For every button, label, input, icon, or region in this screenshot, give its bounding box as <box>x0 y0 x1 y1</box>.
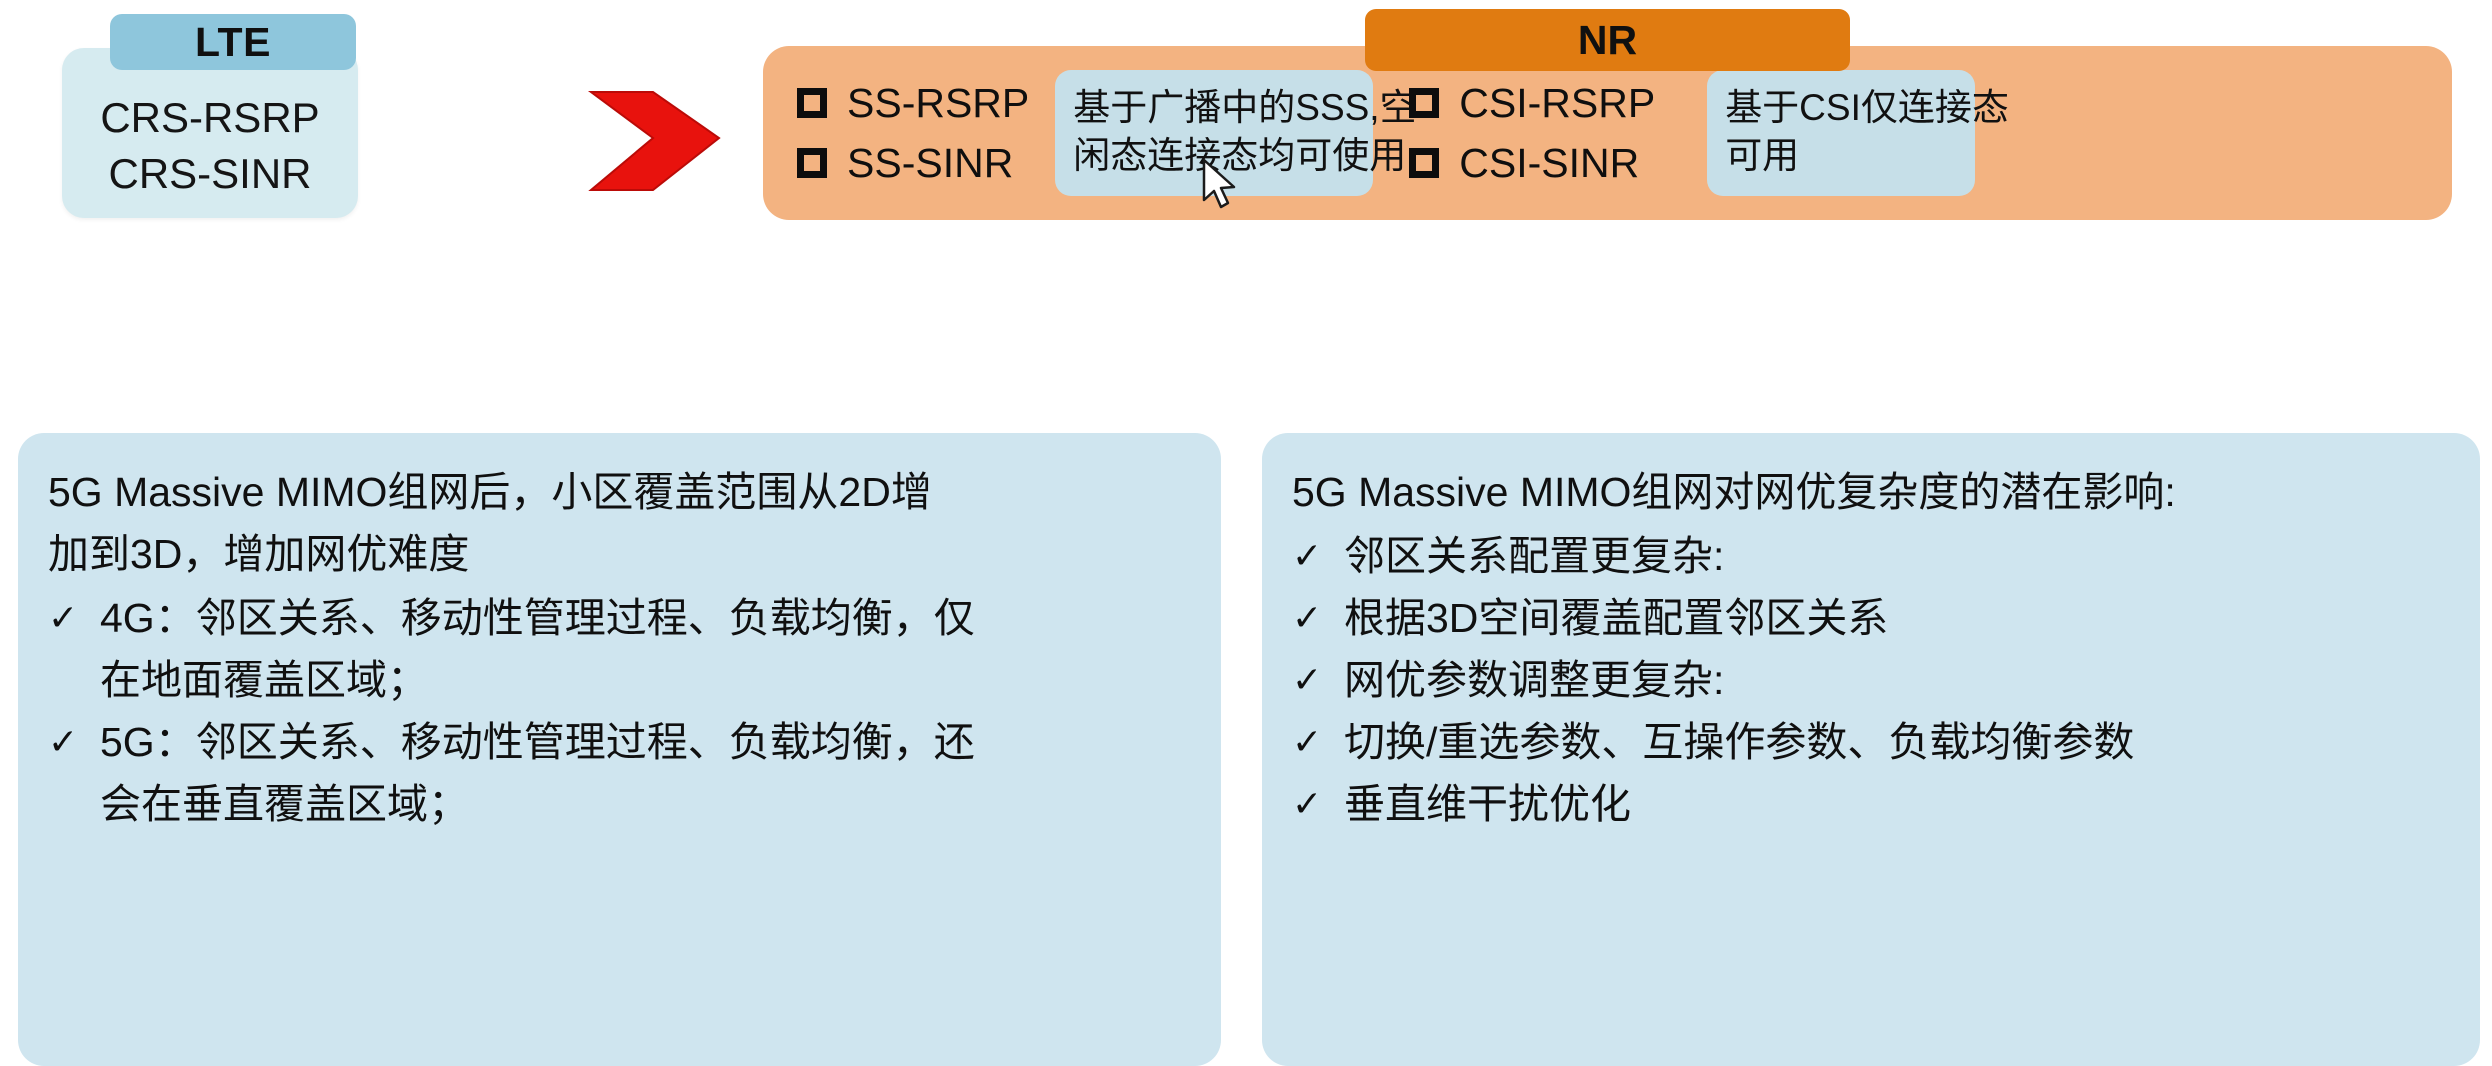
check-mark-icon: ✓ <box>1292 525 1344 587</box>
panel-left-heading-line-2: 加到3D，增加网优难度 <box>48 523 1187 585</box>
panel-left-bullet-1-line-1: 4G：邻区关系、移动性管理过程、负载均衡，仅 <box>100 595 975 641</box>
list-item: ✓ 根据3D空间覆盖配置邻区关系 <box>1292 587 2446 649</box>
list-item: ✓ 4G：邻区关系、移动性管理过程、负载均衡，仅 在地面覆盖区域； <box>48 587 1187 711</box>
nr-metric-row-csi-rsrp[interactable]: CSI-RSRP <box>1409 77 1655 129</box>
check-mark-icon: ✓ <box>1292 711 1344 773</box>
coverage-impact-panel: 5G Massive MIMO组网后，小区覆盖范围从2D增 加到3D，增加网优难… <box>18 433 1221 1066</box>
page-bottom-cutoff <box>0 1046 300 1066</box>
checkbox-csi-sinr-icon[interactable] <box>1409 148 1439 178</box>
panel-right-bullet-2-line-1: 根据3D空间覆盖配置邻区关系 <box>1344 587 2446 649</box>
panel-left-bullet-2-line-2: 会在垂直覆盖区域； <box>100 781 469 827</box>
nr-metric-label-ss-rsrp: SS-RSRP <box>847 77 1029 129</box>
nr-ss-note-line-1: 基于广播中的SSS,空 <box>1073 84 1355 132</box>
lte-tab-label: LTE <box>195 19 271 66</box>
panel-right-heading: 5G Massive MIMO组网对网优复杂度的潜在影响: <box>1292 461 2446 523</box>
panel-left-bullet-1-line-2: 在地面覆盖区域； <box>100 657 428 703</box>
nr-metric-label-ss-sinr: SS-SINR <box>847 137 1013 189</box>
nr-ss-metric-group: SS-RSRP SS-SINR <box>785 77 1051 189</box>
nr-metric-label-csi-rsrp: CSI-RSRP <box>1459 77 1655 129</box>
panel-left-bullet-list: ✓ 4G：邻区关系、移动性管理过程、负载均衡，仅 在地面覆盖区域； ✓ 5G：邻… <box>48 587 1187 835</box>
nr-metric-row-ss-sinr[interactable]: SS-SINR <box>797 137 1029 189</box>
nr-tab-label: NR <box>1578 17 1637 64</box>
checkbox-csi-rsrp-icon[interactable] <box>1409 88 1439 118</box>
comparison-diagram-top-row: LTE CRS-RSRP CRS-SINR SS-RSRP SS-SINR 基于… <box>0 0 2492 250</box>
panel-right-bullet-1-line-1: 邻区关系配置更复杂: <box>1344 525 2446 587</box>
lte-metric-list: CRS-RSRP CRS-SINR <box>62 90 358 202</box>
right-chevron-arrow-icon <box>585 78 725 198</box>
nr-csi-metric-group: CSI-RSRP CSI-SINR <box>1373 77 1677 189</box>
panel-left-bullet-2-text: 5G：邻区关系、移动性管理过程、负载均衡，还 会在垂直覆盖区域； <box>100 711 1187 835</box>
panel-right-bullet-list: ✓ 邻区关系配置更复杂: ✓ 根据3D空间覆盖配置邻区关系 ✓ 网优参数调整更复… <box>1292 525 2446 835</box>
lte-metric-crs-rsrp: CRS-RSRP <box>62 90 358 146</box>
checkbox-ss-sinr-icon[interactable] <box>797 148 827 178</box>
panel-left-heading: 5G Massive MIMO组网后，小区覆盖范围从2D增 加到3D，增加网优难… <box>48 461 1187 585</box>
panel-left-bullet-2-line-1: 5G：邻区关系、移动性管理过程、负载均衡，还 <box>100 719 975 765</box>
list-item: ✓ 5G：邻区关系、移动性管理过程、负载均衡，还 会在垂直覆盖区域； <box>48 711 1187 835</box>
list-item: ✓ 邻区关系配置更复杂: <box>1292 525 2446 587</box>
optimization-complexity-panel: 5G Massive MIMO组网对网优复杂度的潜在影响: ✓ 邻区关系配置更复… <box>1262 433 2480 1066</box>
lte-metric-crs-sinr: CRS-SINR <box>62 146 358 202</box>
panel-right-bullet-4-line-1: 切换/重选参数、互操作参数、负载均衡参数 <box>1344 711 2446 773</box>
nr-metric-label-csi-sinr: CSI-SINR <box>1459 137 1639 189</box>
check-mark-icon: ✓ <box>48 587 100 649</box>
nr-tab-header: NR <box>1365 9 1850 71</box>
list-item: ✓ 切换/重选参数、互操作参数、负载均衡参数 <box>1292 711 2446 773</box>
nr-csi-note-line-1: 基于CSI仅连接态 <box>1725 84 1957 132</box>
list-item: ✓ 垂直维干扰优化 <box>1292 773 2446 835</box>
list-item: ✓ 网优参数调整更复杂: <box>1292 649 2446 711</box>
panel-right-bullet-3-line-1: 网优参数调整更复杂: <box>1344 649 2446 711</box>
mouse-pointer-icon <box>1200 158 1240 214</box>
nr-metric-row-ss-rsrp[interactable]: SS-RSRP <box>797 77 1029 129</box>
check-mark-icon: ✓ <box>1292 587 1344 649</box>
panel-right-bullet-5-line-1: 垂直维干扰优化 <box>1344 773 2446 835</box>
check-mark-icon: ✓ <box>1292 773 1344 835</box>
panel-left-heading-line-1: 5G Massive MIMO组网后，小区覆盖范围从2D增 <box>48 461 1187 523</box>
check-mark-icon: ✓ <box>1292 649 1344 711</box>
nr-csi-note-line-2: 可用 <box>1725 132 1957 180</box>
panel-left-bullet-1-text: 4G：邻区关系、移动性管理过程、负载均衡，仅 在地面覆盖区域； <box>100 587 1187 711</box>
lte-tab-header: LTE <box>110 14 356 70</box>
nr-metric-row-csi-sinr[interactable]: CSI-SINR <box>1409 137 1655 189</box>
checkbox-ss-rsrp-icon[interactable] <box>797 88 827 118</box>
nr-card-content: SS-RSRP SS-SINR 基于广播中的SSS,空 闲态连接态均可使用 CS… <box>763 46 2452 220</box>
panel-right-heading-line-1: 5G Massive MIMO组网对网优复杂度的潜在影响: <box>1292 461 2446 523</box>
evolution-arrow <box>585 78 725 198</box>
check-mark-icon: ✓ <box>48 711 100 773</box>
nr-csi-note-box: 基于CSI仅连接态 可用 <box>1707 70 1975 196</box>
